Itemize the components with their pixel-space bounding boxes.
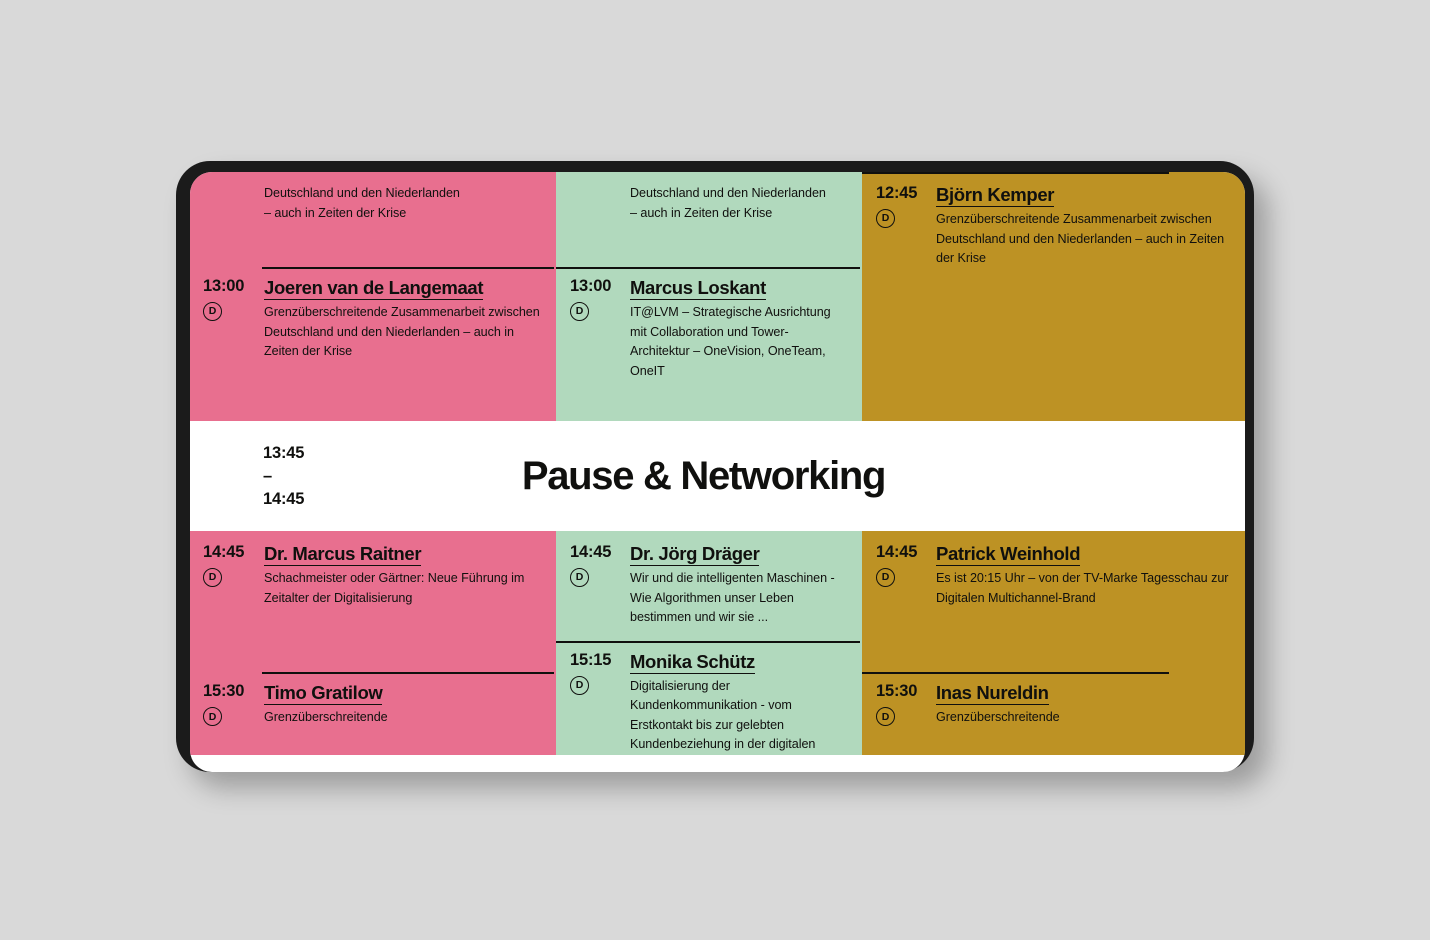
speaker-name[interactable]: Monika Schütz <box>630 651 848 673</box>
session-body: Timo Gratilow Grenzüberschreitende <box>264 682 556 728</box>
session-card[interactable]: 13:00 D Joeren van de Langemaat Grenzübe… <box>190 267 556 402</box>
session-time: 12:45 <box>876 184 936 202</box>
speaker-name[interactable]: Björn Kemper <box>936 184 1231 206</box>
session-time-wrap: 14:45 D <box>556 543 630 628</box>
speaker-name-text: Inas Nureldin <box>936 682 1049 705</box>
speaker-name-text: Dr. Marcus Raitner <box>264 543 421 566</box>
session-time-wrap: 15:30 D <box>862 682 936 728</box>
session-time-wrap: 15:15 D <box>556 651 630 755</box>
track-column-green: 14:45 D Dr. Jörg Dräger Wir und die inte… <box>556 531 862 755</box>
pause-time-start: 13:45 <box>263 442 304 465</box>
language-badge-icon: D <box>570 568 589 587</box>
session-time-wrap: 13:00 D <box>190 277 264 362</box>
session-card[interactable]: 15:15 D Monika Schütz Digitalisierung de… <box>556 641 862 755</box>
session-title: IT@LVM – Strategische Ausrichtung mit Co… <box>630 303 848 381</box>
language-badge-icon: D <box>570 676 589 695</box>
language-badge-icon: D <box>203 302 222 321</box>
session-time-wrap: 13:00 D <box>556 277 630 381</box>
speaker-name-text: Marcus Loskant <box>630 277 766 300</box>
schedule-band-lower: 14:45 D Dr. Marcus Raitner Schachmeister… <box>190 531 1245 755</box>
session-card[interactable]: 12:45 D Björn Kemper Grenzüberschreitend… <box>862 172 1245 309</box>
pause-time-dash: – <box>263 465 304 488</box>
session-body: Inas Nureldin Grenzüberschreitende <box>936 682 1245 728</box>
speaker-name[interactable]: Patrick Weinhold <box>936 543 1231 565</box>
session-card[interactable]: 13:00 D Marcus Loskant IT@LVM – Strategi… <box>556 267 862 421</box>
session-title: Digitalisierung der Kundenkommunikation … <box>630 677 848 755</box>
session-title-partial-2: – auch in Zeiten der Krise <box>264 204 542 224</box>
session-title: Grenzüberschreitende Zusammenarbeit zwis… <box>936 210 1231 269</box>
session-title-partial-2: – auch in Zeiten der Krise <box>630 204 848 224</box>
session-body: Björn Kemper Grenzüberschreitende Zusamm… <box>936 184 1245 269</box>
speaker-name-text: Timo Gratilow <box>264 682 382 705</box>
speaker-name-text: Monika Schütz <box>630 651 755 674</box>
speaker-name[interactable]: Marcus Loskant <box>630 277 848 299</box>
schedule-screen: Deutschland und den Niederlanden – auch … <box>190 172 1245 772</box>
session-time: 14:45 <box>570 543 630 561</box>
speaker-name-text: Björn Kemper <box>936 184 1054 207</box>
pause-title: Pause & Networking <box>190 454 1245 499</box>
session-time: 15:15 <box>570 651 630 669</box>
session-card[interactable]: 14:45 D Dr. Marcus Raitner Schachmeister… <box>190 531 556 672</box>
language-badge-icon: D <box>570 302 589 321</box>
session-card[interactable]: 14:45 D Patrick Weinhold Es ist 20:15 Uh… <box>862 531 1245 672</box>
session-title: Grenzüberschreitende <box>936 708 1231 728</box>
session-time: 13:00 <box>570 277 630 295</box>
session-title: Grenzüberschreitende Zusammenarbeit zwis… <box>264 303 542 362</box>
session-body: Dr. Jörg Dräger Wir und die intelligente… <box>630 543 862 628</box>
speaker-name[interactable]: Inas Nureldin <box>936 682 1231 704</box>
session-card[interactable]: 15:30 D Timo Gratilow Grenzüberschreiten… <box>190 672 556 728</box>
session-time: 14:45 <box>203 543 264 561</box>
session-body: Deutschland und den Niederlanden – auch … <box>630 184 862 223</box>
track-column-pink: Deutschland und den Niederlanden – auch … <box>190 172 556 421</box>
language-badge-icon: D <box>203 568 222 587</box>
session-time-wrap: 12:45 D <box>862 184 936 269</box>
track-column-gold: 12:45 D Björn Kemper Grenzüberschreitend… <box>862 172 1245 421</box>
session-time: 14:45 <box>876 543 936 561</box>
session-body: Dr. Marcus Raitner Schachmeister oder Gä… <box>264 543 556 608</box>
session-title: Schachmeister oder Gärtner: Neue Führung… <box>264 569 542 608</box>
pause-banner[interactable]: 13:45 – 14:45 Pause & Networking <box>190 421 1245 531</box>
session-title-partial: Deutschland und den Niederlanden <box>630 184 848 204</box>
session-card[interactable]: 15:30 D Inas Nureldin Grenzüberschreiten… <box>862 672 1245 728</box>
session-title-partial: Deutschland und den Niederlanden <box>264 184 542 204</box>
session-time: 13:00 <box>203 277 264 295</box>
session-time: 15:30 <box>876 682 936 700</box>
speaker-name-text: Patrick Weinhold <box>936 543 1080 566</box>
session-body: Monika Schütz Digitalisierung der Kunden… <box>630 651 862 755</box>
language-badge-icon: D <box>876 209 895 228</box>
language-badge-icon: D <box>876 568 895 587</box>
language-badge-icon: D <box>876 707 895 726</box>
session-partial-top[interactable]: Deutschland und den Niederlanden – auch … <box>556 172 862 267</box>
speaker-name[interactable]: Dr. Jörg Dräger <box>630 543 848 565</box>
session-time: 15:30 <box>203 682 264 700</box>
session-partial-top[interactable]: Deutschland und den Niederlanden – auch … <box>190 172 556 267</box>
language-badge-icon: D <box>203 707 222 726</box>
session-body: Joeren van de Langemaat Grenzüberschreit… <box>264 277 556 362</box>
pause-time-end: 14:45 <box>263 487 304 510</box>
track-column-gold: 14:45 D Patrick Weinhold Es ist 20:15 Uh… <box>862 531 1245 755</box>
speaker-name[interactable]: Dr. Marcus Raitner <box>264 543 542 565</box>
session-time-wrap: 14:45 D <box>862 543 936 608</box>
session-time-wrap <box>556 184 630 223</box>
speaker-name-text: Joeren van de Langemaat <box>264 277 483 300</box>
session-card[interactable]: 14:45 D Dr. Jörg Dräger Wir und die inte… <box>556 531 862 641</box>
session-title: Wir und die intelligenten Maschinen - Wi… <box>630 569 848 628</box>
session-time-wrap: 15:30 D <box>190 682 264 728</box>
speaker-name-text: Dr. Jörg Dräger <box>630 543 759 566</box>
session-body: Deutschland und den Niederlanden – auch … <box>264 184 556 223</box>
session-body: Patrick Weinhold Es ist 20:15 Uhr – von … <box>936 543 1245 608</box>
speaker-name[interactable]: Joeren van de Langemaat <box>264 277 542 299</box>
speaker-name[interactable]: Timo Gratilow <box>264 682 542 704</box>
track-column-pink: 14:45 D Dr. Marcus Raitner Schachmeister… <box>190 531 556 755</box>
schedule-band-upper: Deutschland und den Niederlanden – auch … <box>190 172 1245 421</box>
session-time-wrap <box>190 184 264 223</box>
session-body: Marcus Loskant IT@LVM – Strategische Aus… <box>630 277 862 381</box>
session-title: Es ist 20:15 Uhr – von der TV-Marke Tage… <box>936 569 1231 608</box>
session-time-wrap: 14:45 D <box>190 543 264 608</box>
session-title: Grenzüberschreitende <box>264 708 542 728</box>
schedule-grid: Deutschland und den Niederlanden – auch … <box>190 172 1245 755</box>
track-column-green: Deutschland und den Niederlanden – auch … <box>556 172 862 421</box>
pause-time-range: 13:45 – 14:45 <box>263 442 304 510</box>
